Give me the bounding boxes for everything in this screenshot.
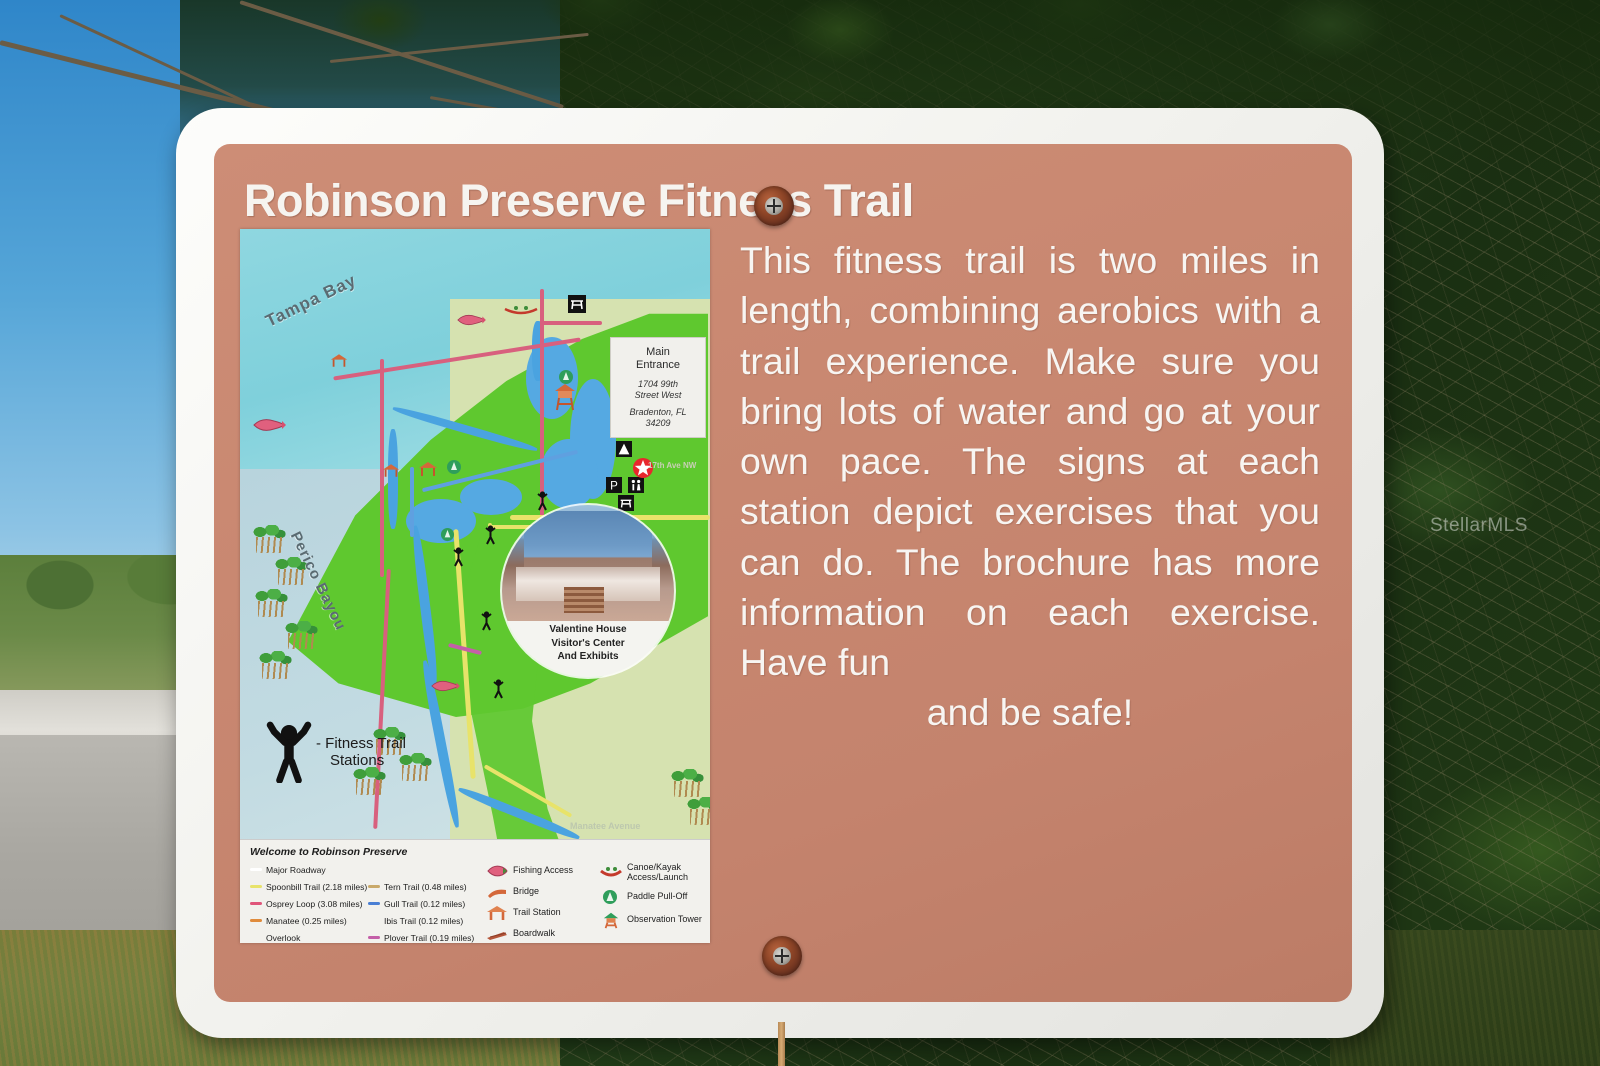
fitness-station-marker (492, 679, 505, 699)
shelter-icon (418, 461, 438, 477)
tidal-creek (388, 429, 398, 529)
mangrove-cluster (686, 797, 710, 827)
sign-post (778, 1022, 785, 1066)
fitness-key-label: - Fitness Trail Stations (316, 735, 406, 770)
legend-item: Major Roadway (250, 861, 362, 878)
legend-item: Manatee (0.25 miles) (250, 912, 362, 929)
paddle-circle-icon (440, 527, 455, 542)
entrance-title-line2: Entrance (615, 359, 701, 372)
mangrove-cluster (258, 651, 292, 681)
legend-label: Ibis Trail (0.12 miles) (384, 916, 463, 926)
fitness-station-marker (480, 611, 493, 631)
main-entrance-box: Main Entrance 1704 99th Street West Brad… (610, 337, 706, 438)
legend-trails-left: Major Roadway Spoonbill Trail (2.18 mile… (250, 861, 362, 943)
house-steps (564, 587, 604, 613)
trail-swatch (250, 885, 262, 888)
mangrove-cluster (254, 589, 288, 619)
legend-trails-column: Welcome to Robinson Preserve Major Roadw… (250, 846, 478, 939)
boardwalk-icon (486, 925, 508, 943)
legend-item: Tern Trail (0.48 miles) (368, 878, 478, 895)
body-text: This fitness trail is two miles in lengt… (740, 239, 1320, 683)
legend-label: Plover Trail (0.19 miles) (384, 933, 474, 943)
legend-item: Overlook (250, 929, 362, 943)
legend-label: Observation Tower (627, 915, 702, 925)
fitness-stations-key: - Fitness Trail Stations (266, 721, 406, 783)
paddle-circle-icon (558, 369, 574, 385)
legend-label: Osprey Loop (3.08 miles) (266, 899, 362, 909)
legend-item: Plover Trail (0.19 miles) (368, 929, 478, 943)
mounting-bolt-top (754, 186, 794, 226)
stick-figure-arms-up-icon (266, 721, 312, 783)
legend-label: Paddle Pull-Off (627, 892, 687, 902)
fish-icon (486, 862, 508, 880)
trail-swatch (250, 868, 262, 871)
fitness-key-line2: Stations (316, 752, 406, 769)
picnic-marker-icon (568, 295, 586, 313)
trail-swatch (250, 919, 262, 922)
phillips-screw-icon (773, 947, 791, 965)
map-legend: Welcome to Robinson Preserve Major Roadw… (240, 839, 710, 943)
legend-item: Paddle Pull-Off (600, 886, 708, 907)
tower-icon (600, 911, 622, 929)
legend-item: Trail Station (486, 902, 594, 923)
entrance-address-line4: 34209 (615, 418, 701, 429)
map-label-manatee-avenue: Manatee Avenue (570, 821, 640, 831)
phillips-screw-icon (765, 197, 783, 215)
legend-label: Fishing Access (513, 866, 573, 876)
mls-watermark: StellarMLS (1430, 515, 1528, 537)
body-last-line: and be safe! (740, 687, 1320, 737)
legend-item: Gull Trail (0.12 miles) (368, 895, 478, 912)
trail-sign-frame: Robinson Preserve Fitness Trail (176, 108, 1384, 1038)
callout-line3: And Exhibits (502, 650, 674, 664)
legend-symbols: Fishing Access Bridge Trail Station (486, 846, 708, 939)
canoe-icon (600, 864, 622, 882)
description-panel: This fitness trail is two miles in lengt… (734, 229, 1330, 947)
mangrove-cluster (284, 621, 318, 651)
photo-scene: StellarMLS Robinson Preserve Fitness Tra… (0, 0, 1600, 1066)
legend-heading: Welcome to Robinson Preserve (250, 846, 478, 858)
legend-label: Spoonbill Trail (2.18 miles) (266, 882, 367, 892)
legend-item: Boardwalk (486, 923, 594, 943)
shelter-icon (382, 463, 400, 478)
trail-swatch (250, 936, 262, 939)
fitness-key-line1: - Fitness Trail (316, 735, 406, 752)
parking-marker-icon: P (606, 477, 622, 493)
legend-label: Canoe/Kayak Access/Launch (627, 863, 708, 882)
legend-label: Major Roadway (266, 865, 326, 875)
body-paragraph: This fitness trail is two miles in lengt… (740, 235, 1320, 738)
trail-swatch (368, 919, 380, 922)
trail-swatch (368, 885, 380, 888)
fitness-station-marker (452, 547, 465, 567)
tower-icon (552, 381, 578, 411)
legend-symbols-right: Canoe/Kayak Access/Launch Paddle Pull-Of… (600, 860, 708, 939)
legend-label: Manatee (0.25 miles) (266, 916, 347, 926)
camp-marker-icon (616, 441, 632, 457)
legend-item: Observation Tower (600, 907, 708, 933)
legend-item: Bridge (486, 881, 594, 902)
callout-line2: Visitor's Center (502, 637, 674, 651)
valentine-house-photo (502, 505, 674, 621)
svg-text:P: P (610, 480, 618, 492)
legend-item: Canoe/Kayak Access/Launch (600, 860, 708, 886)
entrance-title-line1: Main (615, 346, 701, 359)
bridge-icon (486, 883, 508, 901)
mounting-bolt-bottom (762, 936, 802, 976)
legend-trails-right: Tern Trail (0.48 miles) Gull Trail (0.12… (368, 861, 478, 943)
entrance-address-line3: Bradenton, FL (615, 407, 701, 418)
canoe-icon (504, 305, 538, 319)
shelter-icon (330, 353, 348, 368)
trail-spoonbill (410, 467, 414, 537)
legend-symbols-left: Fishing Access Bridge Trail Station (486, 860, 594, 939)
legend-label: Bridge (513, 887, 539, 897)
legend-label: Boardwalk (513, 929, 555, 939)
valentine-house-callout: Valentine House Visitor's Center And Exh… (502, 505, 674, 677)
paddle-circle-icon (446, 459, 462, 475)
fish-icon (430, 679, 460, 693)
fish-icon (456, 313, 486, 327)
legend-item: Ibis Trail (0.12 miles) (368, 912, 478, 929)
legend-item: Fishing Access (486, 860, 594, 881)
trail-osprey-loop (540, 321, 602, 325)
legend-item: Spoonbill Trail (2.18 miles) (250, 878, 362, 895)
fitness-station-marker (484, 525, 497, 545)
legend-label: Trail Station (513, 908, 561, 918)
entrance-address-line2: Street West (615, 390, 701, 401)
map-label-17th-ave-nw: 17th Ave NW (648, 461, 696, 470)
callout-line1: Valentine House (502, 623, 674, 637)
mangrove-cluster (670, 769, 704, 799)
preserve-map: P Tampa Bay Perico Bayou Manatee Ave (240, 229, 710, 943)
shelter-icon (486, 904, 508, 922)
restroom-marker-icon (628, 477, 644, 493)
mangrove-cluster (252, 525, 286, 555)
legend-label: Gull Trail (0.12 miles) (384, 899, 465, 909)
legend-item: Osprey Loop (3.08 miles) (250, 895, 362, 912)
legend-label: Tern Trail (0.48 miles) (384, 882, 467, 892)
callout-caption: Valentine House Visitor's Center And Exh… (502, 623, 674, 664)
trail-swatch (368, 936, 380, 939)
legend-label: Overlook (266, 933, 300, 943)
entrance-address-line1: 1704 99th (615, 379, 701, 390)
trail-swatch (250, 902, 262, 905)
fish-icon (252, 417, 286, 433)
paddle-circle-icon (600, 888, 622, 906)
trail-swatch (368, 902, 380, 905)
trail-sign-face: Robinson Preserve Fitness Trail (214, 144, 1352, 1002)
